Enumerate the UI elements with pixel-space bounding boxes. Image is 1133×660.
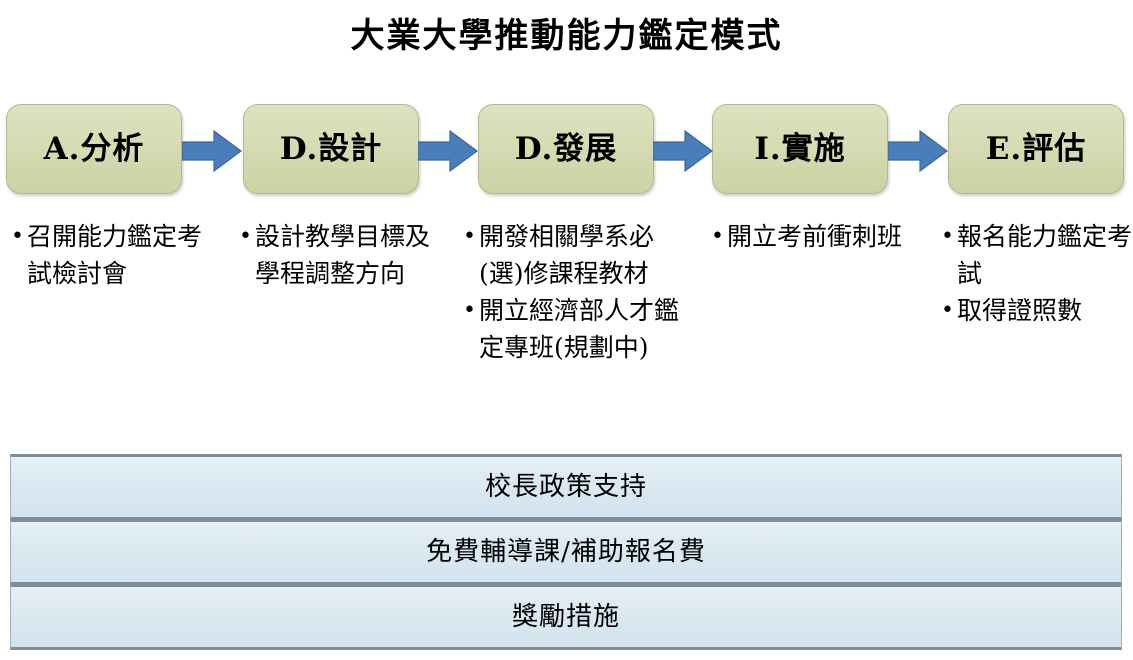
stage-box-evaluation[interactable]: E.評估 — [948, 104, 1124, 194]
list-item: 召開能力鑑定考試檢討會 — [10, 218, 225, 292]
stage-label: D.設計 — [280, 134, 383, 165]
support-bar-label: 校長政策支持 — [485, 474, 647, 500]
support-bar-incentives[interactable]: 獎勵措施 — [10, 584, 1122, 650]
bullet-column-development: 開發相關學系必(選)修課程教材 開立經濟部人才鑑定專班(規劃中) — [462, 218, 680, 366]
support-measures-group: 校長政策支持 免費輔導課/補助報名費 獎勵措施 — [10, 454, 1122, 650]
bullet-column-implementation: 開立考前衝刺班 — [710, 218, 910, 255]
support-bar-tutoring[interactable]: 免費輔導課/補助報名費 — [10, 519, 1122, 585]
stage-box-analysis[interactable]: A.分析 — [6, 104, 182, 194]
list-item: 開立考前衝刺班 — [710, 218, 910, 255]
right-arrow-icon — [888, 130, 948, 172]
stage-box-development[interactable]: D.發展 — [478, 104, 654, 194]
stage-label: I.實施 — [754, 134, 845, 165]
right-arrow-icon — [653, 130, 713, 172]
right-arrow-icon — [182, 130, 242, 172]
support-bar-policy[interactable]: 校長政策支持 — [10, 454, 1122, 520]
list-item: 報名能力鑑定考試 — [940, 218, 1133, 292]
list-item: 取得證照數 — [940, 292, 1133, 329]
stage-label: D.發展 — [515, 134, 618, 165]
right-arrow-icon — [418, 130, 478, 172]
support-bar-label: 免費輔導課/補助報名費 — [426, 539, 706, 565]
bullet-column-evaluation: 報名能力鑑定考試 取得證照數 — [940, 218, 1133, 329]
stage-box-design[interactable]: D.設計 — [243, 104, 419, 194]
stage-label: E.評估 — [986, 134, 1086, 165]
bullet-column-design: 設計教學目標及學程調整方向 — [238, 218, 448, 292]
list-item: 開立經濟部人才鑑定專班(規劃中) — [462, 292, 680, 366]
stage-label: A.分析 — [44, 134, 145, 165]
page-title: 大業大學推動能力鑑定模式 — [0, 14, 1133, 58]
stage-details-row: 召開能力鑑定考試檢討會 設計教學目標及學程調整方向 開發相關學系必(選)修課程教… — [0, 218, 1133, 438]
stage-box-implementation[interactable]: I.實施 — [712, 104, 888, 194]
support-bar-label: 獎勵措施 — [512, 604, 620, 630]
list-item: 開發相關學系必(選)修課程教材 — [462, 218, 680, 292]
bullet-column-analysis: 召開能力鑑定考試檢討會 — [10, 218, 225, 292]
list-item: 設計教學目標及學程調整方向 — [238, 218, 448, 292]
process-flow-row: A.分析 D.設計 D.發展 I.實施 E.評估 — [0, 104, 1133, 194]
